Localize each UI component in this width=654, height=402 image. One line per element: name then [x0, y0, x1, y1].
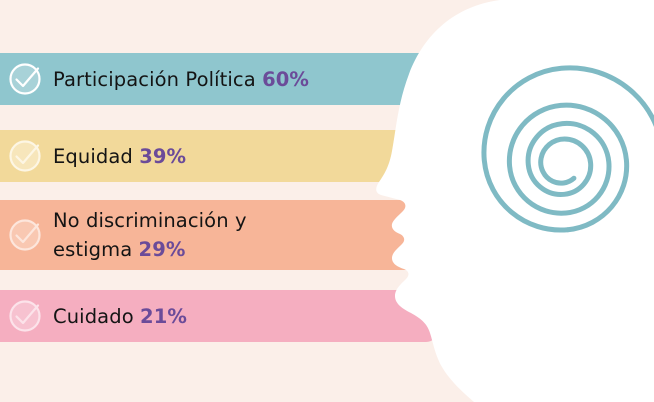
- check-circle-icon: [8, 139, 42, 173]
- infographic-canvas: Participación Política 60% Equidad 39% N…: [0, 0, 654, 402]
- brain-spiral-outer: [484, 68, 654, 230]
- stat-bar-label: Equidad 39%: [53, 144, 186, 169]
- check-circle-icon: [8, 218, 42, 252]
- stat-bar-percent: 60%: [262, 68, 309, 91]
- stat-bar-label-text: Cuidado: [53, 305, 140, 328]
- stat-bar-percent: 29%: [139, 238, 186, 261]
- check-circle-icon: [8, 299, 42, 333]
- check-circle-icon: [8, 62, 42, 96]
- stat-bar-label: No discriminación y estigma 29%: [53, 206, 247, 264]
- stat-bar-equidad: Equidad 39%: [0, 130, 420, 182]
- stat-bar-participacion-politica: Participación Política 60%: [0, 53, 436, 105]
- stat-bar-cuidado: Cuidado 21%: [0, 290, 438, 342]
- stat-bar-label-text: Equidad: [53, 145, 139, 168]
- brain-spiral: [509, 105, 626, 230]
- stat-bar-label-text: Participación Política: [53, 68, 262, 91]
- stat-bar-label: Cuidado 21%: [53, 304, 187, 329]
- stat-bar-label: Participación Política 60%: [53, 67, 309, 92]
- stat-bar-percent: 21%: [140, 305, 187, 328]
- stat-bar-percent: 39%: [139, 145, 186, 168]
- stat-bar-no-discriminacion-y-estigma: No discriminación y estigma 29%: [0, 200, 432, 270]
